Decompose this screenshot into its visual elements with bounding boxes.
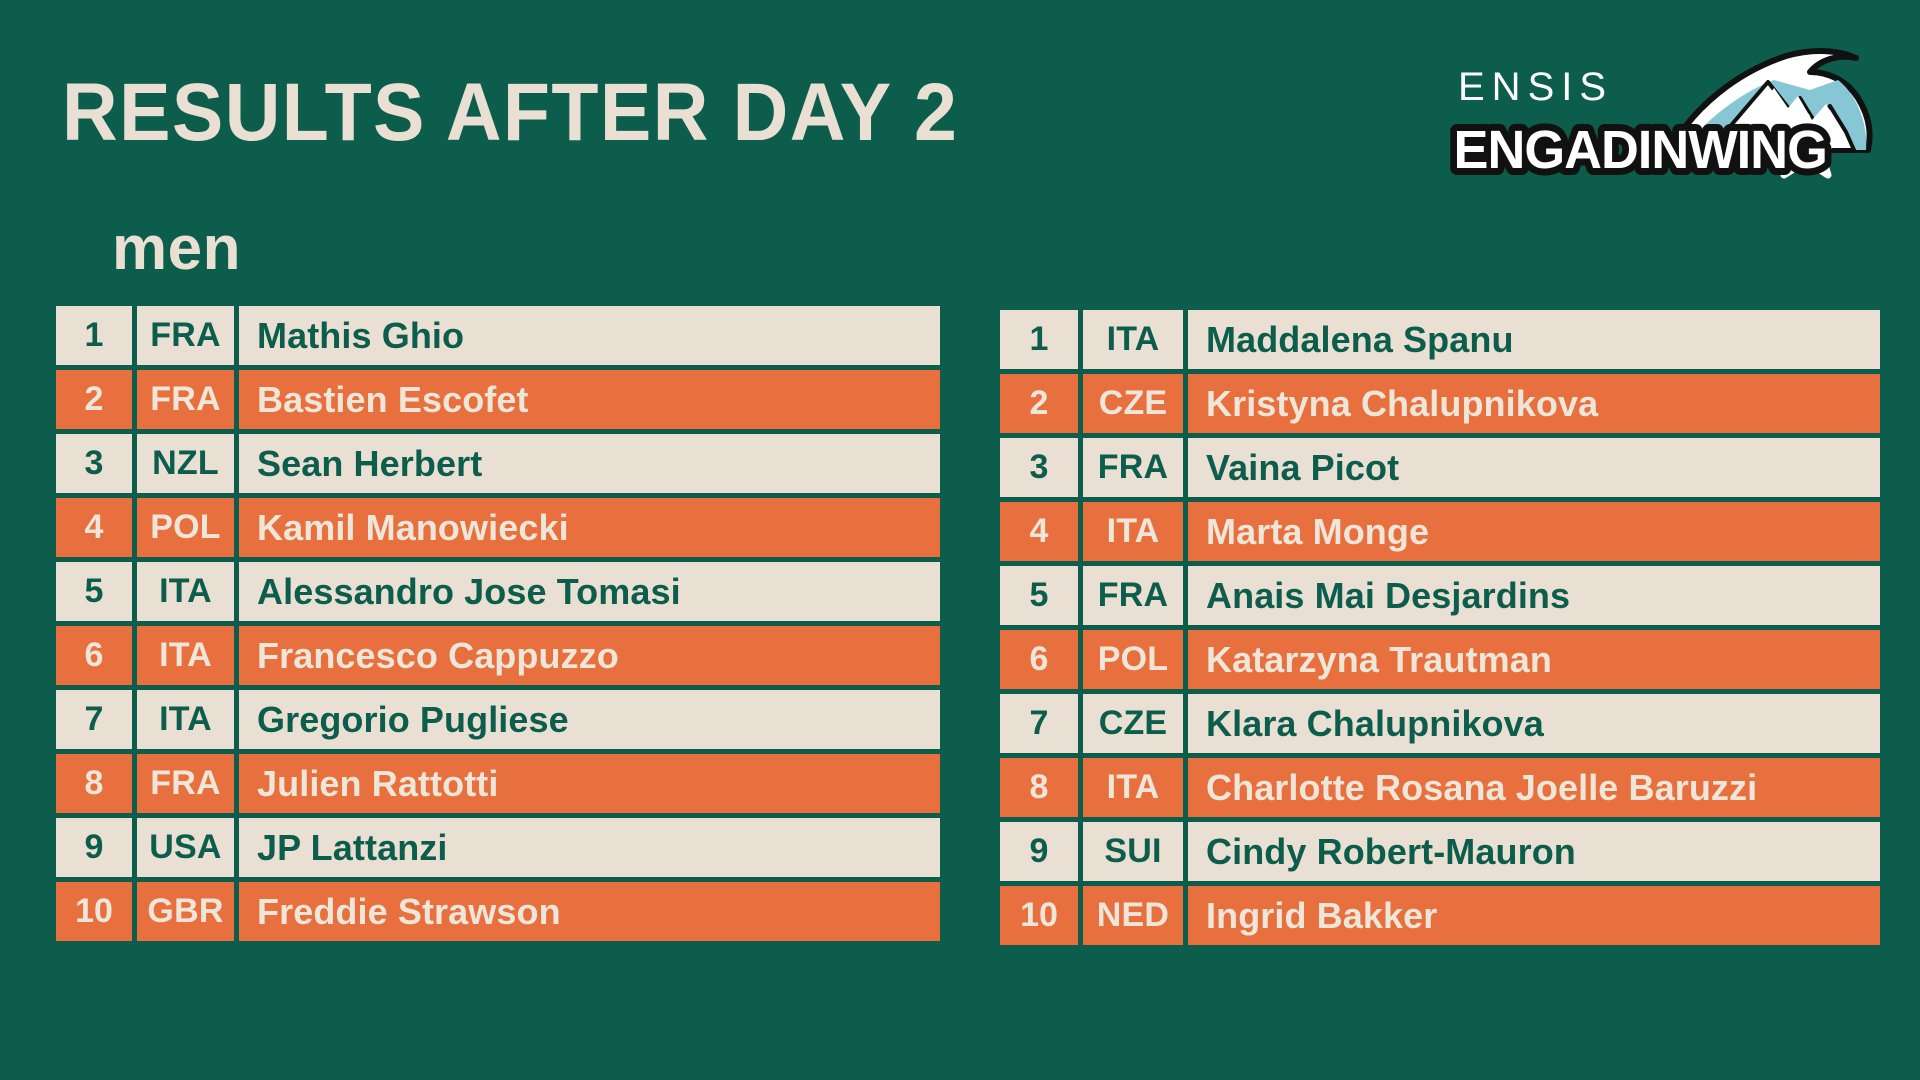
cell-country: FRA [1083, 438, 1183, 497]
results-table-men: 1FRAMathis Ghio2FRABastien Escofet3NZLSe… [56, 306, 940, 946]
table-row: 6POLKatarzyna Trautman [1000, 630, 1880, 689]
cell-country: FRA [137, 306, 234, 365]
cell-name: Charlotte Rosana Joelle Baruzzi [1188, 758, 1880, 817]
cell-country: FRA [137, 370, 234, 429]
cell-name: Ingrid Bakker [1188, 886, 1880, 945]
cell-name: Mathis Ghio [239, 306, 940, 365]
cell-rank: 10 [56, 882, 132, 941]
table-row: 2FRABastien Escofet [56, 370, 940, 429]
cell-country: NED [1083, 886, 1183, 945]
page-title: RESULTS AFTER DAY 2 [62, 72, 958, 154]
cell-country: CZE [1083, 374, 1183, 433]
cell-name: Kristyna Chalupnikova [1188, 374, 1880, 433]
table-row: 4POLKamil Manowiecki [56, 498, 940, 557]
table-row: 3FRAVaina Picot [1000, 438, 1880, 497]
table-row: 10GBRFreddie Strawson [56, 882, 940, 941]
cell-rank: 5 [56, 562, 132, 621]
table-row: 4ITAMarta Monge [1000, 502, 1880, 561]
cell-name: Katarzyna Trautman [1188, 630, 1880, 689]
cell-rank: 5 [1000, 566, 1078, 625]
cell-rank: 7 [56, 690, 132, 749]
cell-country: USA [137, 818, 234, 877]
cell-name: Alessandro Jose Tomasi [239, 562, 940, 621]
cell-name: Marta Monge [1188, 502, 1880, 561]
cell-name: Bastien Escofet [239, 370, 940, 429]
table-row: 1FRAMathis Ghio [56, 306, 940, 365]
cell-name: Cindy Robert-Mauron [1188, 822, 1880, 881]
cell-country: POL [1083, 630, 1183, 689]
table-row: 8ITACharlotte Rosana Joelle Baruzzi [1000, 758, 1880, 817]
cell-rank: 2 [56, 370, 132, 429]
cell-rank: 8 [1000, 758, 1078, 817]
cell-rank: 4 [56, 498, 132, 557]
cell-country: ITA [137, 690, 234, 749]
cell-rank: 3 [56, 434, 132, 493]
table-row: 7CZEKlara Chalupnikova [1000, 694, 1880, 753]
table-row: 1ITAMaddalena Spanu [1000, 310, 1880, 369]
results-table-women: 1ITAMaddalena Spanu2CZEKristyna Chalupni… [1000, 310, 1880, 950]
cell-rank: 8 [56, 754, 132, 813]
table-row: 9SUICindy Robert-Mauron [1000, 822, 1880, 881]
cell-country: SUI [1083, 822, 1183, 881]
table-row: 8FRAJulien Rattotti [56, 754, 940, 813]
cell-country: NZL [137, 434, 234, 493]
table-row: 9USAJP Lattanzi [56, 818, 940, 877]
cell-rank: 2 [1000, 374, 1078, 433]
cell-country: ITA [1083, 310, 1183, 369]
cell-rank: 6 [1000, 630, 1078, 689]
cell-name: Julien Rattotti [239, 754, 940, 813]
cell-name: Maddalena Spanu [1188, 310, 1880, 369]
logo-ensis-text: ENSIS [1458, 65, 1613, 109]
table-row: 5ITAAlessandro Jose Tomasi [56, 562, 940, 621]
table-row: 7ITAGregorio Pugliese [56, 690, 940, 749]
cell-name: Anais Mai Desjardins [1188, 566, 1880, 625]
cell-name: Sean Herbert [239, 434, 940, 493]
cell-rank: 10 [1000, 886, 1078, 945]
cell-rank: 9 [1000, 822, 1078, 881]
cell-name: Vaina Picot [1188, 438, 1880, 497]
engadinwing-logo: ENSIS ENGADINWING [1438, 32, 1878, 182]
section-heading-men: men [112, 218, 241, 280]
cell-name: Freddie Strawson [239, 882, 940, 941]
cell-rank: 1 [1000, 310, 1078, 369]
table-row: 3NZLSean Herbert [56, 434, 940, 493]
table-row: 6ITAFrancesco Cappuzzo [56, 626, 940, 685]
cell-country: POL [137, 498, 234, 557]
table-row: 5FRAAnais Mai Desjardins [1000, 566, 1880, 625]
cell-country: CZE [1083, 694, 1183, 753]
cell-rank: 4 [1000, 502, 1078, 561]
cell-rank: 6 [56, 626, 132, 685]
cell-country: FRA [1083, 566, 1183, 625]
cell-name: Gregorio Pugliese [239, 690, 940, 749]
cell-country: FRA [137, 754, 234, 813]
cell-country: ITA [137, 562, 234, 621]
cell-rank: 7 [1000, 694, 1078, 753]
cell-rank: 9 [56, 818, 132, 877]
cell-country: GBR [137, 882, 234, 941]
cell-country: ITA [1083, 758, 1183, 817]
cell-country: ITA [1083, 502, 1183, 561]
cell-country: ITA [137, 626, 234, 685]
cell-name: Kamil Manowiecki [239, 498, 940, 557]
table-row: 2CZEKristyna Chalupnikova [1000, 374, 1880, 433]
cell-name: JP Lattanzi [239, 818, 940, 877]
logo-engadinwing-text: ENGADINWING [1454, 120, 1827, 180]
table-row: 10NEDIngrid Bakker [1000, 886, 1880, 945]
cell-rank: 1 [56, 306, 132, 365]
cell-name: Francesco Cappuzzo [239, 626, 940, 685]
cell-rank: 3 [1000, 438, 1078, 497]
cell-name: Klara Chalupnikova [1188, 694, 1880, 753]
